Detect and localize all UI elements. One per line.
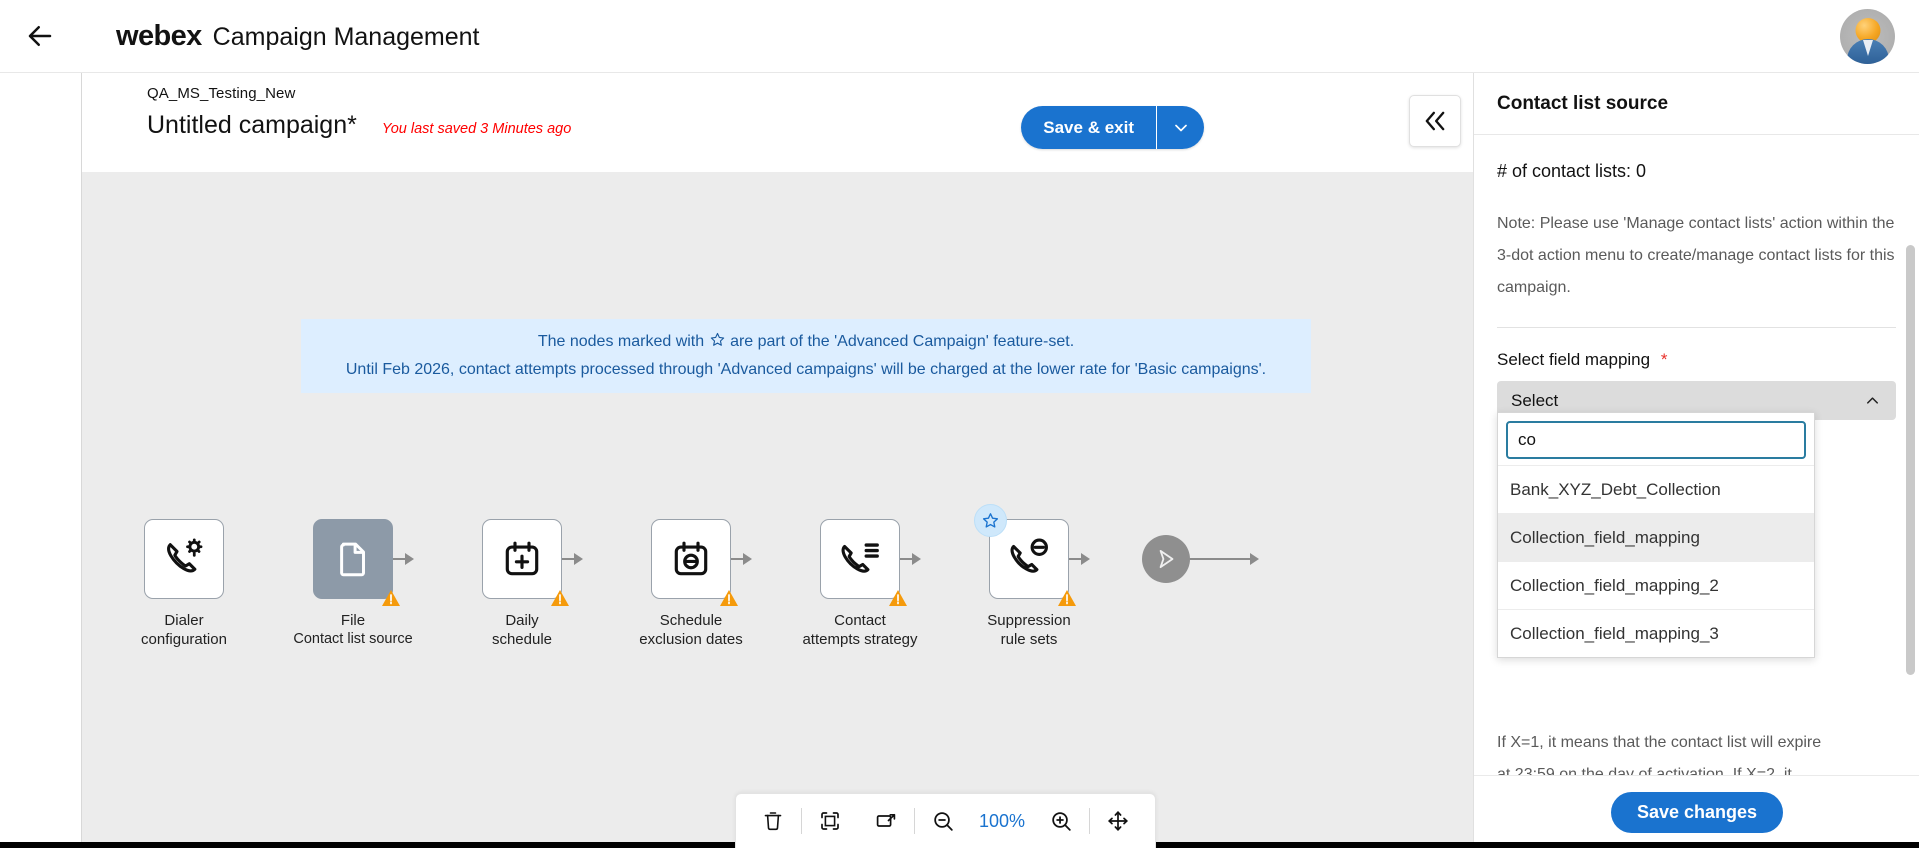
- save-exit-group: Save & exit: [1021, 106, 1204, 149]
- node-label-group: Suppression rule sets: [934, 611, 1124, 649]
- dropdown-option[interactable]: Collection_field_mapping: [1498, 513, 1814, 561]
- pan-move-icon: [1106, 809, 1130, 833]
- flow-node-suppression-rule-sets[interactable]: Suppression rule sets: [989, 519, 1069, 649]
- node-box[interactable]: [820, 519, 900, 599]
- node-label-group: Daily schedule: [427, 611, 617, 649]
- star-outline-icon: [981, 511, 1000, 530]
- node-label-line2: attempts strategy: [765, 630, 955, 649]
- save-changes-button[interactable]: Save changes: [1611, 792, 1783, 833]
- canvas-column: QA_MS_Testing_New Untitled campaign* You…: [82, 73, 1473, 848]
- node-label-line1: Schedule: [596, 611, 786, 630]
- calendar-plus-icon: [501, 538, 543, 580]
- node-box[interactable]: [989, 519, 1069, 599]
- phone-block-icon: [1007, 537, 1051, 581]
- required-marker: *: [1661, 350, 1668, 369]
- avatar[interactable]: [1840, 9, 1895, 64]
- breadcrumb[interactable]: QA_MS_Testing_New: [147, 85, 1473, 102]
- node-label-group: Contact attempts strategy: [765, 611, 955, 649]
- chevron-up-icon: [1863, 391, 1882, 410]
- field-mapping-dropdown: Bank_XYZ_Debt_Collection Collection_fiel…: [1497, 412, 1815, 658]
- calendar-minus-icon: [670, 538, 712, 580]
- connector-arrow-5: [1081, 553, 1090, 565]
- panel-scrollbar[interactable]: [1906, 245, 1915, 675]
- chevron-down-icon: [1171, 118, 1191, 138]
- minimap-button[interactable]: [858, 794, 914, 848]
- left-rail: [0, 73, 82, 848]
- fit-to-screen-button[interactable]: [802, 794, 858, 848]
- connector-arrow-4: [912, 553, 921, 565]
- field-mapping-label: Select field mapping *: [1497, 350, 1896, 370]
- field-mapping-selected-value: Select: [1511, 391, 1558, 411]
- dropdown-option[interactable]: Collection_field_mapping_2: [1498, 561, 1814, 609]
- node-box[interactable]: [313, 519, 393, 599]
- save-exit-dropdown-button[interactable]: [1157, 106, 1204, 149]
- node-warning-badge: [1057, 589, 1077, 607]
- dropdown-search-input[interactable]: [1506, 421, 1806, 459]
- node-warning-badge: [719, 589, 739, 607]
- title-row: Untitled campaign* You last saved 3 Minu…: [147, 111, 1473, 140]
- node-label-line2: exclusion dates: [596, 630, 786, 649]
- warning-triangle-icon: [381, 589, 401, 607]
- flow-node-dialer-configuration[interactable]: Dialer configuration: [144, 519, 224, 649]
- zoom-in-button[interactable]: [1033, 794, 1089, 848]
- node-label-line1: File: [258, 611, 448, 630]
- contact-lists-count: # of contact lists: 0: [1497, 161, 1896, 182]
- warning-triangle-icon: [888, 589, 908, 607]
- node-sublabel: Contact list source: [258, 630, 448, 649]
- phone-gear-icon: [162, 537, 206, 581]
- panel-divider: [1497, 327, 1896, 328]
- trash-icon: [761, 809, 785, 833]
- node-label-line1: Suppression: [934, 611, 1124, 630]
- flow-canvas[interactable]: The nodes marked with are part of the 'A…: [82, 172, 1473, 848]
- panel-body: # of contact lists: 0 Note: Please use '…: [1474, 135, 1919, 779]
- arrow-left-icon: [25, 21, 55, 51]
- node-label-line1: Dialer: [89, 611, 279, 630]
- manage-contact-lists-note: Note: Please use 'Manage contact lists' …: [1497, 208, 1896, 304]
- node-label-line1: Daily: [427, 611, 617, 630]
- field-mapping-label-text: Select field mapping: [1497, 350, 1650, 369]
- canvas-toolbar: 100%: [735, 793, 1156, 848]
- zoom-level-display[interactable]: 100%: [971, 811, 1033, 832]
- page-title: Untitled campaign*: [147, 111, 357, 140]
- campaign-management-app: webex Campaign Management QA_MS_Testing_…: [0, 0, 1919, 848]
- node-box[interactable]: [482, 519, 562, 599]
- app-title: Campaign Management: [213, 23, 480, 52]
- campaign-header: QA_MS_Testing_New Untitled campaign* You…: [82, 73, 1473, 172]
- right-side-panel: Contact list source # of contact lists: …: [1473, 73, 1919, 848]
- minimap-icon: [874, 809, 898, 833]
- save-and-exit-button[interactable]: Save & exit: [1021, 106, 1157, 149]
- last-saved-note: You last saved 3 Minutes ago: [382, 121, 571, 137]
- panel-footer: Save changes: [1474, 775, 1919, 848]
- flow-nodes: Dialer configuration: [82, 172, 1473, 848]
- app-header: webex Campaign Management: [0, 0, 1919, 73]
- collapse-panel-button[interactable]: [1409, 95, 1461, 147]
- chevron-double-left-icon: [1421, 107, 1449, 135]
- connector-arrow-2: [574, 553, 583, 565]
- node-label-group: Schedule exclusion dates: [596, 611, 786, 649]
- phone-list-icon: [838, 537, 882, 581]
- flow-node-daily-schedule[interactable]: Daily schedule: [482, 519, 562, 649]
- webex-logo: webex: [116, 20, 202, 53]
- panel-title: Contact list source: [1497, 93, 1668, 115]
- warning-triangle-icon: [719, 589, 739, 607]
- warning-triangle-icon: [1057, 589, 1077, 607]
- send-icon: [1153, 546, 1179, 572]
- fit-to-screen-icon: [818, 809, 842, 833]
- node-box[interactable]: [651, 519, 731, 599]
- flow-node-contact-attempts-strategy[interactable]: Contact attempts strategy: [820, 519, 900, 649]
- panel-header: Contact list source: [1474, 73, 1919, 135]
- node-label-group: File Contact list source: [258, 611, 448, 649]
- back-button[interactable]: [16, 12, 64, 60]
- delete-button[interactable]: [745, 794, 801, 848]
- connector-arrow-3: [743, 553, 752, 565]
- pan-button[interactable]: [1090, 794, 1146, 848]
- node-label-line1: Contact: [765, 611, 955, 630]
- node-warning-badge: [888, 589, 908, 607]
- zoom-out-button[interactable]: [915, 794, 971, 848]
- node-box[interactable]: [144, 519, 224, 599]
- node-warning-badge: [381, 589, 401, 607]
- node-label-line2: configuration: [89, 630, 279, 649]
- node-label-group: Dialer configuration: [89, 611, 279, 649]
- brand-area: webex Campaign Management: [116, 20, 480, 53]
- node-warning-badge: [550, 589, 570, 607]
- flow-end-node[interactable]: [1142, 535, 1190, 583]
- dropdown-option[interactable]: Bank_XYZ_Debt_Collection: [1498, 465, 1814, 513]
- connector-arrow-6: [1250, 553, 1259, 565]
- connector-arrow-1: [405, 553, 414, 565]
- user-avatar-icon: [1840, 9, 1895, 64]
- warning-triangle-icon: [550, 589, 570, 607]
- flow-node-file[interactable]: File Contact list source: [313, 519, 393, 649]
- node-label-line2: rule sets: [934, 630, 1124, 649]
- zoom-in-icon: [1049, 809, 1074, 834]
- document-icon: [332, 538, 374, 580]
- advanced-feature-star-badge: [974, 504, 1007, 537]
- node-label-line2: schedule: [427, 630, 617, 649]
- flow-node-schedule-exclusion-dates[interactable]: Schedule exclusion dates: [651, 519, 731, 649]
- zoom-out-icon: [931, 809, 956, 834]
- dropdown-search-wrap: [1498, 413, 1814, 465]
- dropdown-option[interactable]: Collection_field_mapping_3: [1498, 609, 1814, 657]
